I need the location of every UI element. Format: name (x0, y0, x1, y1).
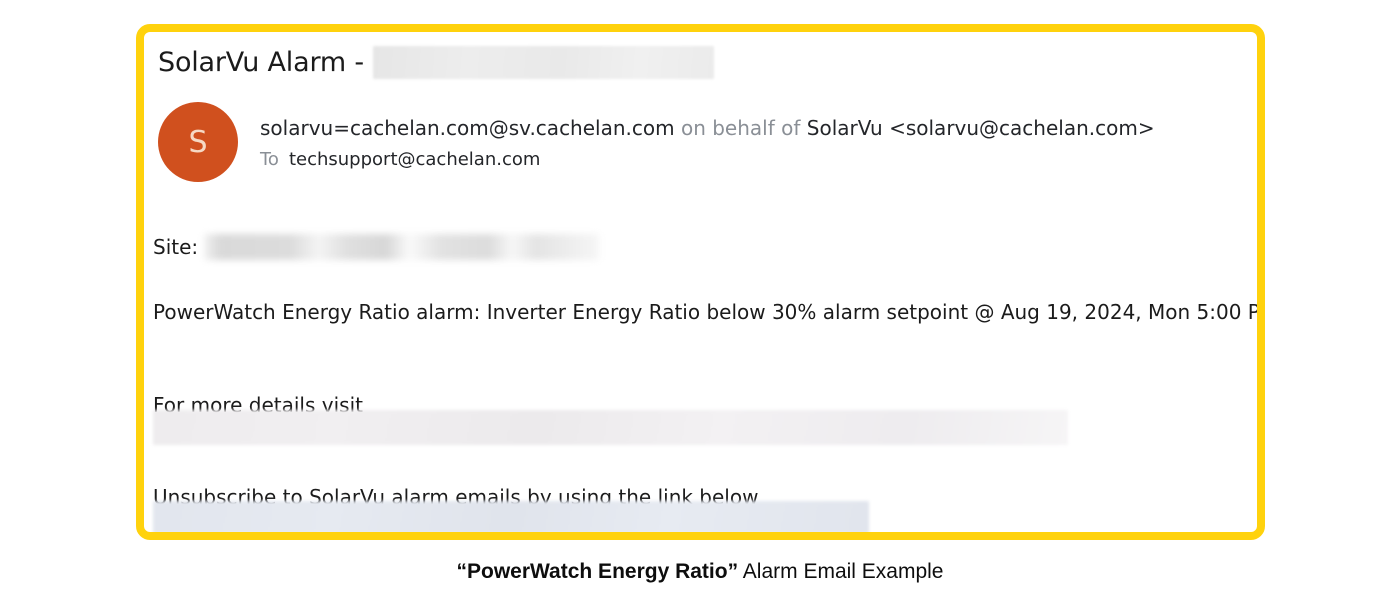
from-address[interactable]: solarvu=cachelan.com@sv.cachelan.com (260, 116, 675, 140)
to-label: To (260, 149, 279, 170)
redacted-unsubscribe-link[interactable] (153, 501, 869, 532)
figure-caption: “PowerWatch Energy Ratio” Alarm Email Ex… (0, 560, 1400, 584)
to-address[interactable]: techsupport@cachelan.com (289, 149, 540, 170)
site-row: Site: (153, 232, 599, 262)
caption-quoted-title: “PowerWatch Energy Ratio” (456, 560, 738, 583)
redacted-subject-block (373, 46, 714, 79)
from-behalf-label: on behalf of (681, 116, 800, 140)
caption-rest: Alarm Email Example (738, 560, 943, 583)
from-display-name[interactable]: SolarVu <solarvu@cachelan.com> (807, 116, 1155, 140)
avatar: S (158, 102, 238, 182)
email-subject-text: SolarVu Alarm - (158, 47, 364, 78)
to-line: Totechsupport@cachelan.com (260, 148, 1155, 172)
redacted-site-value (204, 234, 599, 260)
email-subject-row: SolarVu Alarm - (158, 40, 714, 84)
site-label: Site: (153, 233, 198, 261)
email-body: SolarVu Alarm - S solarvu=cachelan.com@s… (144, 32, 1257, 532)
redacted-details-url[interactable] (153, 410, 1068, 445)
screenshot-root: SolarVu Alarm - S solarvu=cachelan.com@s… (0, 0, 1400, 610)
sender-block: S solarvu=cachelan.com@sv.cachelan.com o… (158, 102, 1155, 182)
sender-lines: solarvu=cachelan.com@sv.cachelan.com on … (260, 102, 1155, 172)
from-line: solarvu=cachelan.com@sv.cachelan.com on … (260, 114, 1155, 142)
email-card-frame: SolarVu Alarm - S solarvu=cachelan.com@s… (136, 24, 1265, 540)
alarm-message: PowerWatch Energy Ratio alarm: Inverter … (153, 298, 1257, 326)
